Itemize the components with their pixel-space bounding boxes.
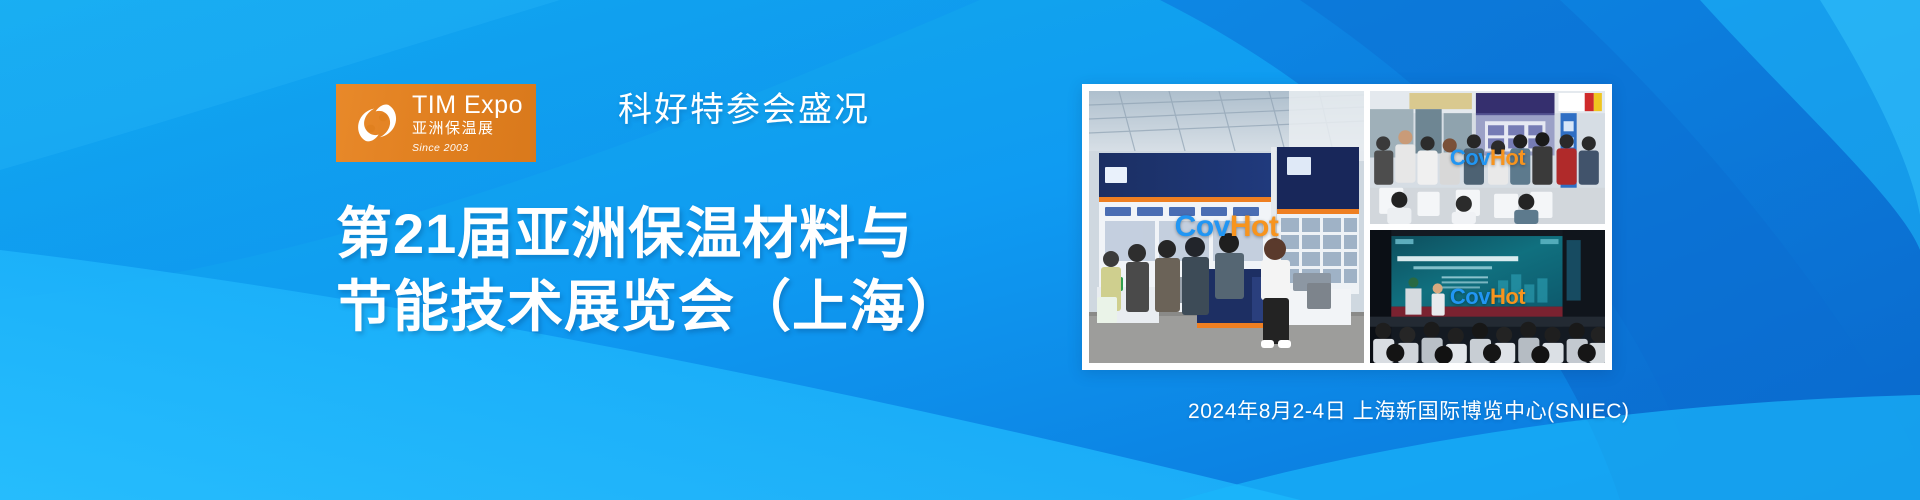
- headline-line-1: 第21届亚洲保温材料与: [336, 198, 963, 271]
- logo-subtitle-cn: 亚洲保温展: [412, 121, 523, 136]
- photo-collage: CovHot: [1082, 84, 1612, 370]
- collage-right-column: CovHot: [1370, 91, 1605, 363]
- date-venue-line: 2024年8月2-4日 上海新国际博览中心(SNIEC): [1188, 395, 1630, 425]
- tim-expo-logo[interactable]: TIM Expo 亚洲保温展 Since 2003: [336, 84, 536, 162]
- photo-exhibition-crowd[interactable]: CovHot: [1370, 91, 1605, 224]
- logo-text-block: TIM Expo 亚洲保温展 Since 2003: [412, 93, 523, 154]
- photo-booth-main[interactable]: CovHot: [1089, 91, 1364, 363]
- promo-banner: TIM Expo 亚洲保温展 Since 2003 科好特参会盛况 第21届亚洲…: [0, 0, 1920, 500]
- banner-subtitle: 科好特参会盛况: [618, 82, 870, 131]
- banner-headline: 第21届亚洲保温材料与 节能技术展览会（上海）: [336, 198, 963, 344]
- logo-title: TIM Expo: [412, 93, 523, 118]
- photo-forum-session[interactable]: CovHot: [1370, 230, 1605, 363]
- banner-left-column: TIM Expo 亚洲保温展 Since 2003 科好特参会盛况 第21届亚洲…: [0, 0, 1080, 500]
- tim-expo-swirl-icon: [350, 96, 404, 150]
- headline-line-2: 节能技术展览会（上海）: [336, 271, 963, 344]
- logo-since-label: Since 2003: [412, 143, 523, 154]
